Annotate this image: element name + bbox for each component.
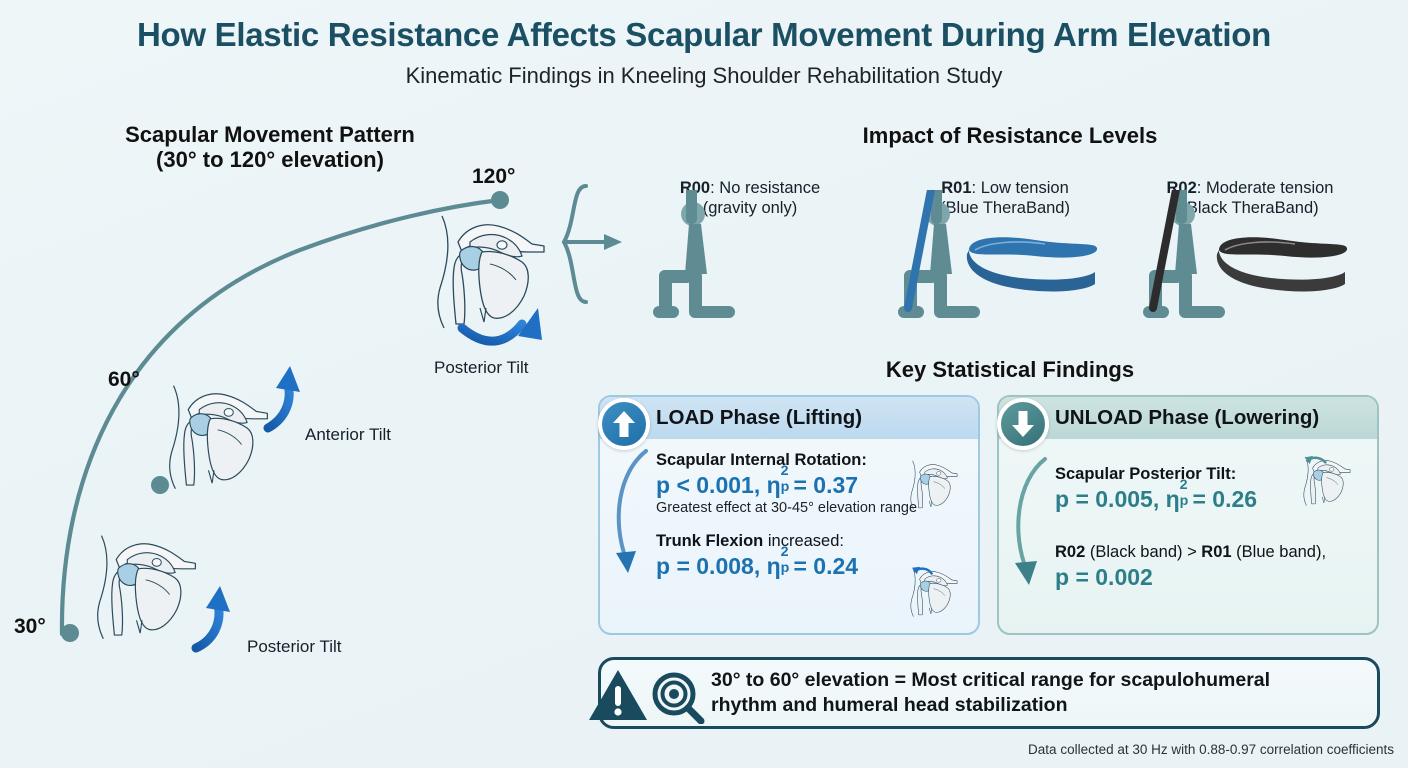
footnote: Data collected at 30 Hz with 0.88-0.97 c… — [1028, 742, 1394, 757]
mini-anatomy-load-2 — [910, 562, 964, 624]
load-phase-card: LOAD Phase (Lifting) Scapular Internal R… — [598, 395, 980, 635]
anatomy-illustration-60 — [170, 386, 268, 489]
page-title: How Elastic Resistance Affects Scapular … — [0, 16, 1408, 54]
posterior-tilt-arrow-120 — [462, 324, 522, 341]
load-stat-2-label: Trunk Flexion increased: — [656, 532, 968, 551]
target-magnifier-icon — [649, 670, 705, 724]
unload-flow-arrow — [1001, 449, 1057, 609]
tilt-label-60: Anterior Tilt — [305, 425, 391, 445]
load-phase-title: LOAD Phase (Lifting) — [600, 397, 978, 439]
unload-stat-2-label: R02 (Black band) > R01 (Blue band), — [1055, 543, 1367, 562]
load-flow-arrow — [602, 441, 658, 601]
arrow-down-icon — [1010, 409, 1036, 439]
load-phase-badge — [598, 398, 650, 450]
angle-label-120: 120° — [472, 165, 515, 189]
unload-phase-title: UNLOAD Phase (Lowering) — [999, 397, 1377, 439]
infographic-canvas: How Elastic Resistance Affects Scapular … — [0, 0, 1408, 768]
angle-label-60: 60° — [108, 368, 140, 392]
anatomy-illustration-30 — [98, 536, 196, 639]
arc-node-30 — [61, 624, 79, 642]
theraband-blue-icon — [955, 230, 1105, 300]
arrow-up-icon — [611, 409, 637, 439]
section-heading-resistance: Impact of Resistance Levels — [700, 123, 1320, 148]
arc-node-120 — [491, 191, 509, 209]
warning-triangle-icon — [585, 666, 651, 726]
banner-text: 30° to 60° elevation = Most critical ran… — [711, 668, 1270, 717]
angle-label-30: 30° — [14, 615, 46, 639]
unload-phase-card: UNLOAD Phase (Lowering) Scapular Posteri… — [997, 395, 1379, 635]
section-heading-key-findings: Key Statistical Findings — [720, 357, 1300, 382]
mini-anatomy-load-1 — [910, 455, 964, 517]
tilt-label-120: Posterior Tilt — [434, 358, 528, 378]
page-subtitle: Kinematic Findings in Kneeling Shoulder … — [0, 63, 1408, 89]
posterior-tilt-arrow-30 — [196, 604, 219, 648]
unload-phase-badge — [997, 398, 1049, 450]
unload-stat-2-value: p = 0.002 — [1055, 564, 1367, 591]
tilt-label-30: Posterior Tilt — [247, 637, 341, 657]
kneeling-figure-r00 — [645, 190, 775, 335]
anatomy-illustration-120 — [438, 216, 544, 328]
critical-range-banner: 30° to 60° elevation = Most critical ran… — [598, 657, 1380, 729]
anterior-tilt-arrow-60 — [268, 384, 289, 428]
theraband-black-icon — [1205, 230, 1355, 300]
arc-node-60 — [151, 476, 169, 494]
mini-anatomy-unload-1 — [1303, 451, 1357, 513]
